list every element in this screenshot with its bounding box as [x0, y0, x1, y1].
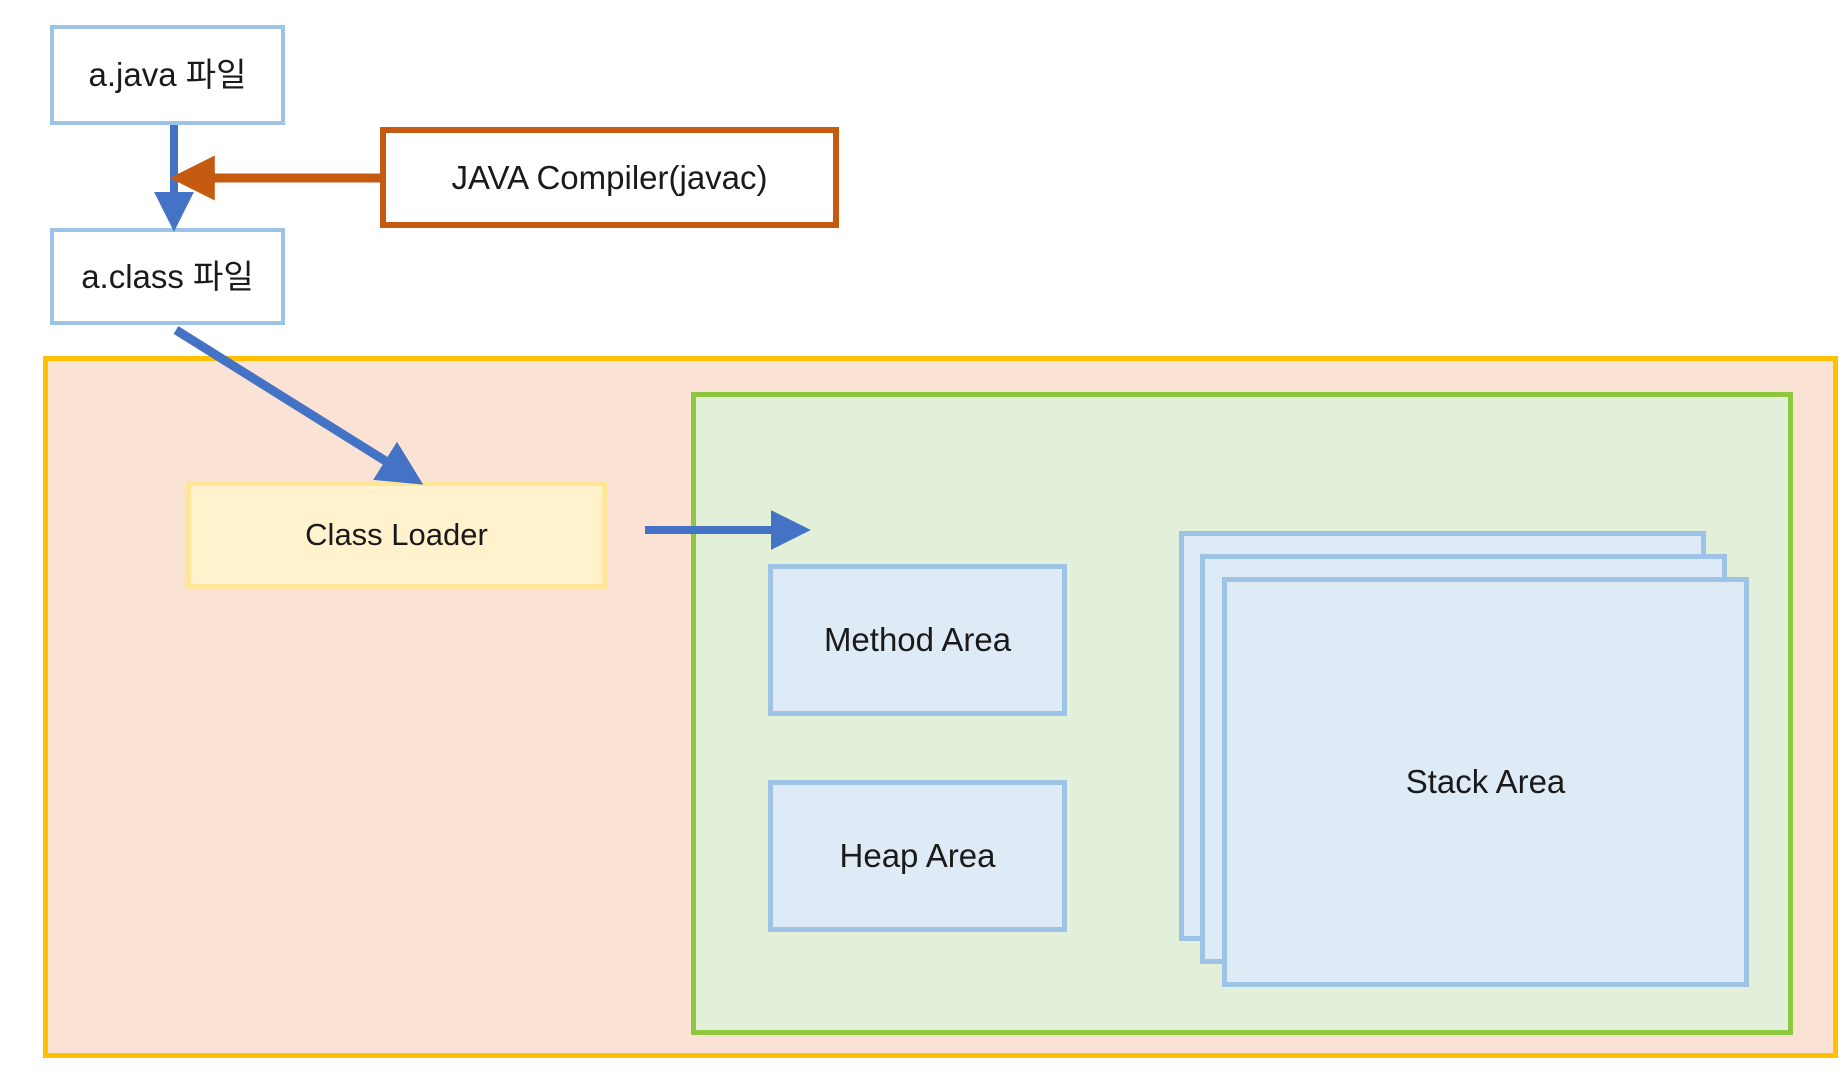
load-arrow-diagonal — [176, 330, 411, 477]
arrow-layer — [0, 0, 1847, 1075]
diagram-canvas: a.java 파일 a.class 파일 JAVA Compiler(javac… — [0, 0, 1847, 1075]
